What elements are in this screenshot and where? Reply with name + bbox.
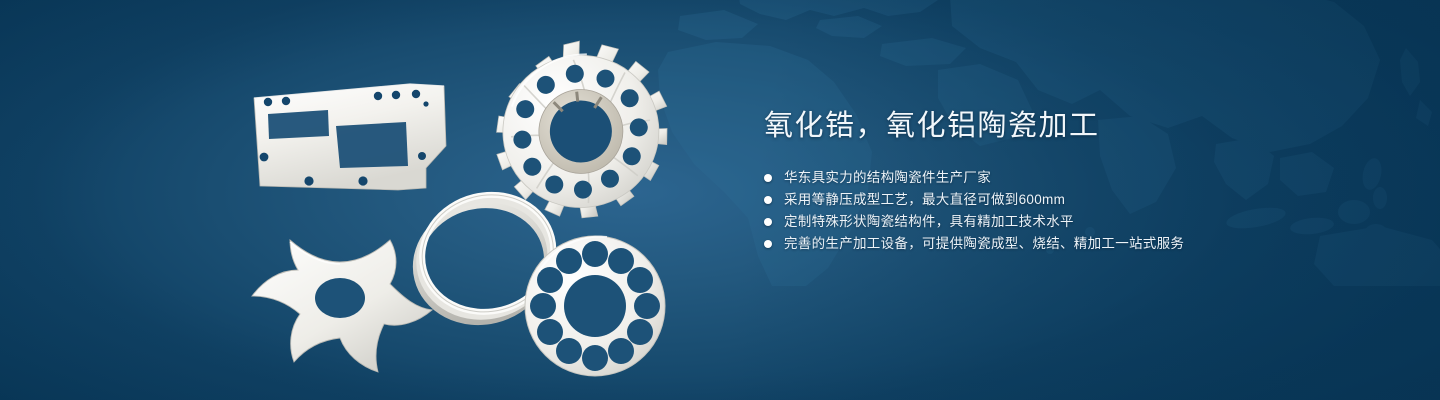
ceramic-perforated-disc-part	[525, 236, 665, 376]
banner-headline: 氧化锆，氧化铝陶瓷加工	[764, 108, 1384, 144]
feature-list: 华东具实力的结构陶瓷件生产厂家 采用等静压成型工艺，最大直径可做到600mm 定…	[764, 170, 1384, 252]
feature-text: 华东具实力的结构陶瓷件生产厂家	[784, 170, 991, 185]
feature-text: 完善的生产加工设备，可提供陶瓷成型、烧结、精加工一站式服务	[784, 236, 1184, 251]
hero-banner: 氧化锆，氧化铝陶瓷加工 华东具实力的结构陶瓷件生产厂家 采用等静压成型工艺，最大…	[0, 0, 1440, 400]
feature-list-item: 华东具实力的结构陶瓷件生产厂家	[764, 170, 1384, 186]
feature-list-item: 完善的生产加工设备，可提供陶瓷成型、烧结、精加工一站式服务	[764, 236, 1384, 252]
ceramic-plate-part	[254, 84, 446, 206]
banner-copy: 氧化锆，氧化铝陶瓷加工 华东具实力的结构陶瓷件生产厂家 采用等静压成型工艺，最大…	[764, 108, 1384, 252]
feature-text: 采用等静压成型工艺，最大直径可做到600mm	[784, 192, 1065, 207]
feature-text: 定制特殊形状陶瓷结构件，具有精加工技术水平	[784, 214, 1074, 229]
bullet-dot-icon	[764, 174, 772, 182]
ceramic-cross-plate-part	[252, 240, 432, 372]
ceramic-products-image	[230, 38, 700, 378]
feature-list-item: 采用等静压成型工艺，最大直径可做到600mm	[764, 192, 1384, 208]
bullet-dot-icon	[764, 196, 772, 204]
bullet-dot-icon	[764, 218, 772, 226]
feature-list-item: 定制特殊形状陶瓷结构件，具有精加工技术水平	[764, 214, 1384, 230]
bullet-dot-icon	[764, 240, 772, 248]
